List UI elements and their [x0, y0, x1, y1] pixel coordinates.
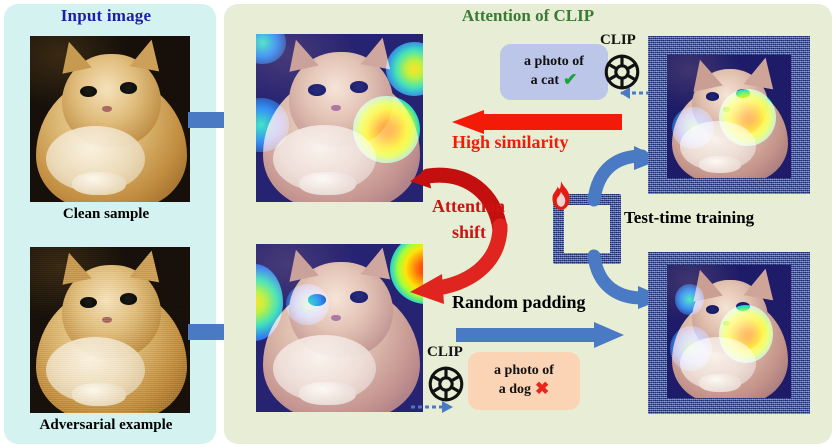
- green-check-icon: ✔: [563, 70, 577, 91]
- red-flame-icon: [548, 181, 574, 211]
- attention-shift-label-line2: shift: [452, 222, 486, 243]
- prediction-correct-line1: a photo of: [524, 53, 584, 70]
- adversarial-example-caption: Adversarial example: [0, 417, 212, 434]
- random-padding-label: Random padding: [452, 292, 586, 313]
- clip-logo-label-bottom: CLIP: [427, 344, 463, 361]
- dashed-right-arrow-icon: [410, 400, 470, 414]
- clean-sample-image: [30, 36, 190, 202]
- padded-attention-output-bottom: [648, 252, 810, 414]
- clip-prediction-wrong-bubble: a photo of a dog ✖: [468, 352, 580, 410]
- test-time-training-label: Test-time training: [624, 208, 754, 228]
- input-image-panel-title: Input image: [0, 6, 212, 26]
- clip-prediction-correct-bubble: a photo of a cat ✔: [500, 44, 608, 100]
- high-similarity-label: High similarity: [452, 132, 569, 153]
- adversarial-example-image: [30, 247, 190, 413]
- prediction-correct-line2: a cat: [531, 72, 559, 89]
- red-left-arrow-icon: [450, 110, 622, 134]
- blue-right-arrow-icon: [456, 322, 626, 348]
- clean-sample-caption: Clean sample: [0, 206, 212, 223]
- attention-of-clip-panel-title: Attention of CLIP: [224, 6, 832, 26]
- prediction-wrong-line2: a dog: [499, 381, 531, 398]
- padded-attention-output-top: [648, 36, 810, 194]
- prediction-wrong-line1: a photo of: [494, 362, 554, 379]
- red-cross-icon: ✖: [535, 379, 549, 400]
- adversarial-attention-heatmap: [256, 244, 423, 412]
- attention-shift-label-line1: Attention: [432, 196, 505, 217]
- clean-attention-heatmap: [256, 34, 423, 202]
- clip-logo-label-top: CLIP: [600, 32, 636, 49]
